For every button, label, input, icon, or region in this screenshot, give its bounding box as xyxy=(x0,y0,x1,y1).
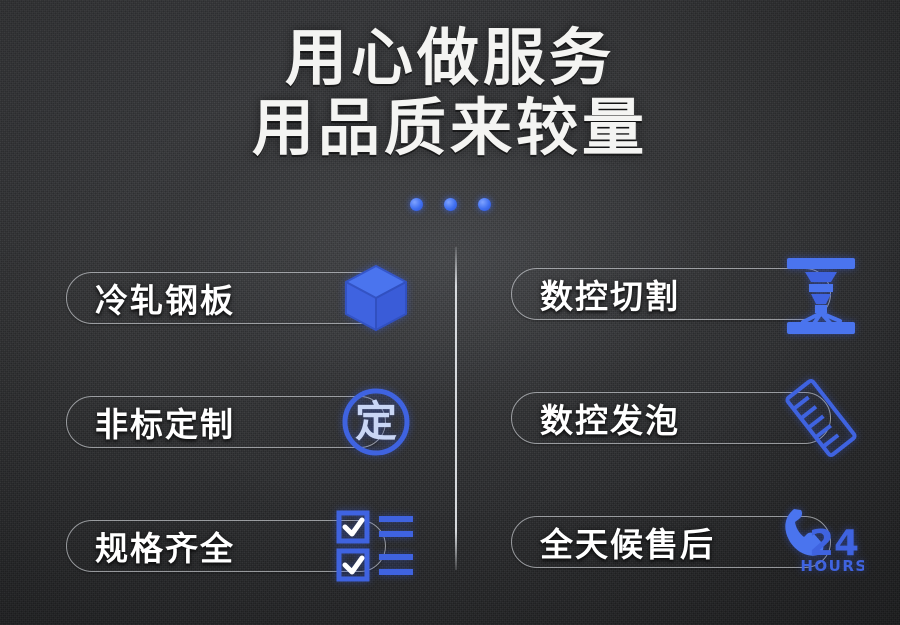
feature-label: 全天候售后 xyxy=(540,518,715,566)
laser-cutter-icon xyxy=(775,250,867,338)
feature-item-cnc-cutting[interactable]: 数控切割 xyxy=(503,244,873,344)
circled-ding-icon: 定 xyxy=(330,378,422,466)
vertical-divider xyxy=(455,247,457,570)
page-title: 用心做服务 用品质来较量 xyxy=(0,24,900,164)
checklist-icon xyxy=(330,502,422,590)
feature-column-left: 冷轧钢板 非标定制 定 规格齐全 xyxy=(58,248,428,596)
feature-item-full-specs[interactable]: 规格齐全 xyxy=(58,496,428,596)
feature-label: 数控发泡 xyxy=(540,394,680,442)
dot-3-icon xyxy=(478,198,491,211)
dot-2-icon xyxy=(444,198,457,211)
feature-column-right: 数控切割 数控发泡 xyxy=(503,244,873,592)
dot-1-icon xyxy=(410,198,423,211)
feature-label: 冷轧钢板 xyxy=(95,274,235,322)
cube-icon xyxy=(330,254,422,342)
feature-item-24h-support[interactable]: 全天候售后 24 HOURS xyxy=(503,492,873,592)
hours-label: HOURS xyxy=(800,557,864,575)
feature-item-cold-rolled-steel[interactable]: 冷轧钢板 xyxy=(58,248,428,348)
headline-line-1: 用心做服务 xyxy=(0,24,900,94)
decorative-dots xyxy=(0,198,900,211)
feature-item-custom-made[interactable]: 非标定制 定 xyxy=(58,372,428,472)
feature-label: 规格齐全 xyxy=(95,522,235,570)
headline-line-2: 用品质来较量 xyxy=(0,94,900,164)
feature-label: 数控切割 xyxy=(540,270,680,318)
feature-label: 非标定制 xyxy=(95,398,235,446)
circled-char: 定 xyxy=(355,397,397,446)
phone-24-hours-icon: 24 HOURS xyxy=(775,498,867,586)
feature-item-cnc-foaming[interactable]: 数控发泡 xyxy=(503,368,873,468)
ruler-icon xyxy=(775,374,867,462)
